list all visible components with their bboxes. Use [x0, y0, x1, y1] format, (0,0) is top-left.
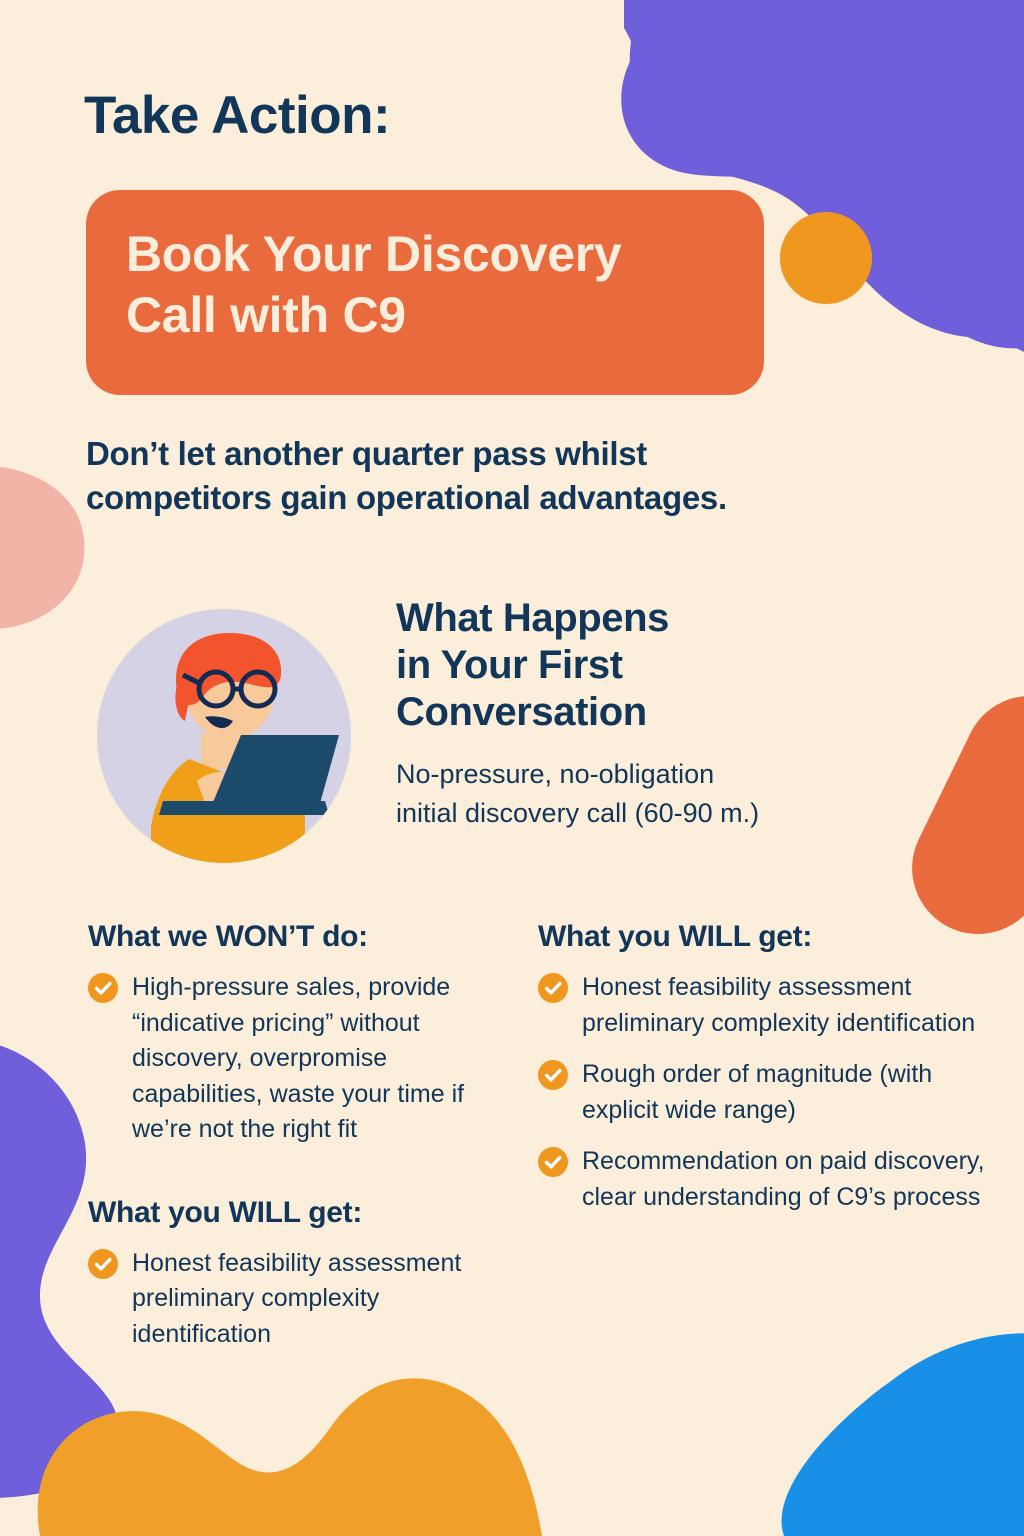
what-happens-heading-line-1: What Happens [396, 595, 926, 642]
what-happens-subtext-line-2: initial discovery call (60-90 m.) [396, 794, 926, 833]
list-item: Rough order of magnitude (with explicit … [538, 1057, 988, 1128]
list-item-text: Honest feasibility assessment preliminar… [582, 970, 988, 1041]
check-circle-icon [538, 973, 568, 1003]
list-item: Honest feasibility assessment preliminar… [538, 970, 988, 1041]
list-item-text: High-pressure sales, provide “indicative… [132, 970, 518, 1148]
check-circle-icon [88, 973, 118, 1003]
lede-paragraph: Don’t let another quarter pass whilst co… [86, 432, 956, 520]
what-happens-heading: What Happens in Your First Conversation [396, 595, 926, 735]
check-circle-icon [538, 1060, 568, 1090]
list-item-text: Rough order of magnitude (with explicit … [582, 1057, 988, 1128]
content-layer: Take Action: Book Your Discovery Call wi… [0, 0, 1024, 1536]
laptop-base [159, 801, 329, 815]
what-happens-subtext-line-1: No-pressure, no-obligation [396, 755, 926, 794]
cta-banner[interactable]: Book Your Discovery Call with C9 [86, 190, 764, 395]
right-column: What you WILL get: Honest feasibility as… [538, 920, 988, 1215]
lede-line-2: competitors gain operational advantages. [86, 476, 956, 520]
lede-line-1: Don’t let another quarter pass whilst [86, 432, 956, 476]
section-heading-will-get-right: What you WILL get: [538, 920, 988, 954]
what-happens-subtext: No-pressure, no-obligation initial disco… [396, 755, 926, 832]
what-happens-heading-line-3: Conversation [396, 689, 926, 736]
page-title: Take Action: [84, 88, 390, 144]
section-heading-will-get-left: What you WILL get: [88, 1196, 518, 1230]
what-happens-heading-line-2: in Your First [396, 642, 926, 689]
list-item: High-pressure sales, provide “indicative… [88, 970, 518, 1148]
person-at-laptop-illustration [93, 605, 355, 867]
cta-line-1: Book Your Discovery [126, 224, 724, 285]
list-item-text: Honest feasibility assessment preliminar… [132, 1246, 518, 1353]
check-circle-icon [538, 1147, 568, 1177]
list-item: Honest feasibility assessment preliminar… [88, 1246, 518, 1353]
cta-line-2: Call with C9 [126, 285, 724, 346]
section-heading-wont-do: What we WON’T do: [88, 920, 518, 954]
list-item-text: Recommendation on paid discovery, clear … [582, 1144, 988, 1215]
infographic-page: Take Action: Book Your Discovery Call wi… [0, 0, 1024, 1536]
what-happens-block: What Happens in Your First Conversation … [396, 595, 926, 833]
left-column: What we WON’T do: High-pressure sales, p… [88, 920, 518, 1352]
check-circle-icon [88, 1249, 118, 1279]
list-item: Recommendation on paid discovery, clear … [538, 1144, 988, 1215]
